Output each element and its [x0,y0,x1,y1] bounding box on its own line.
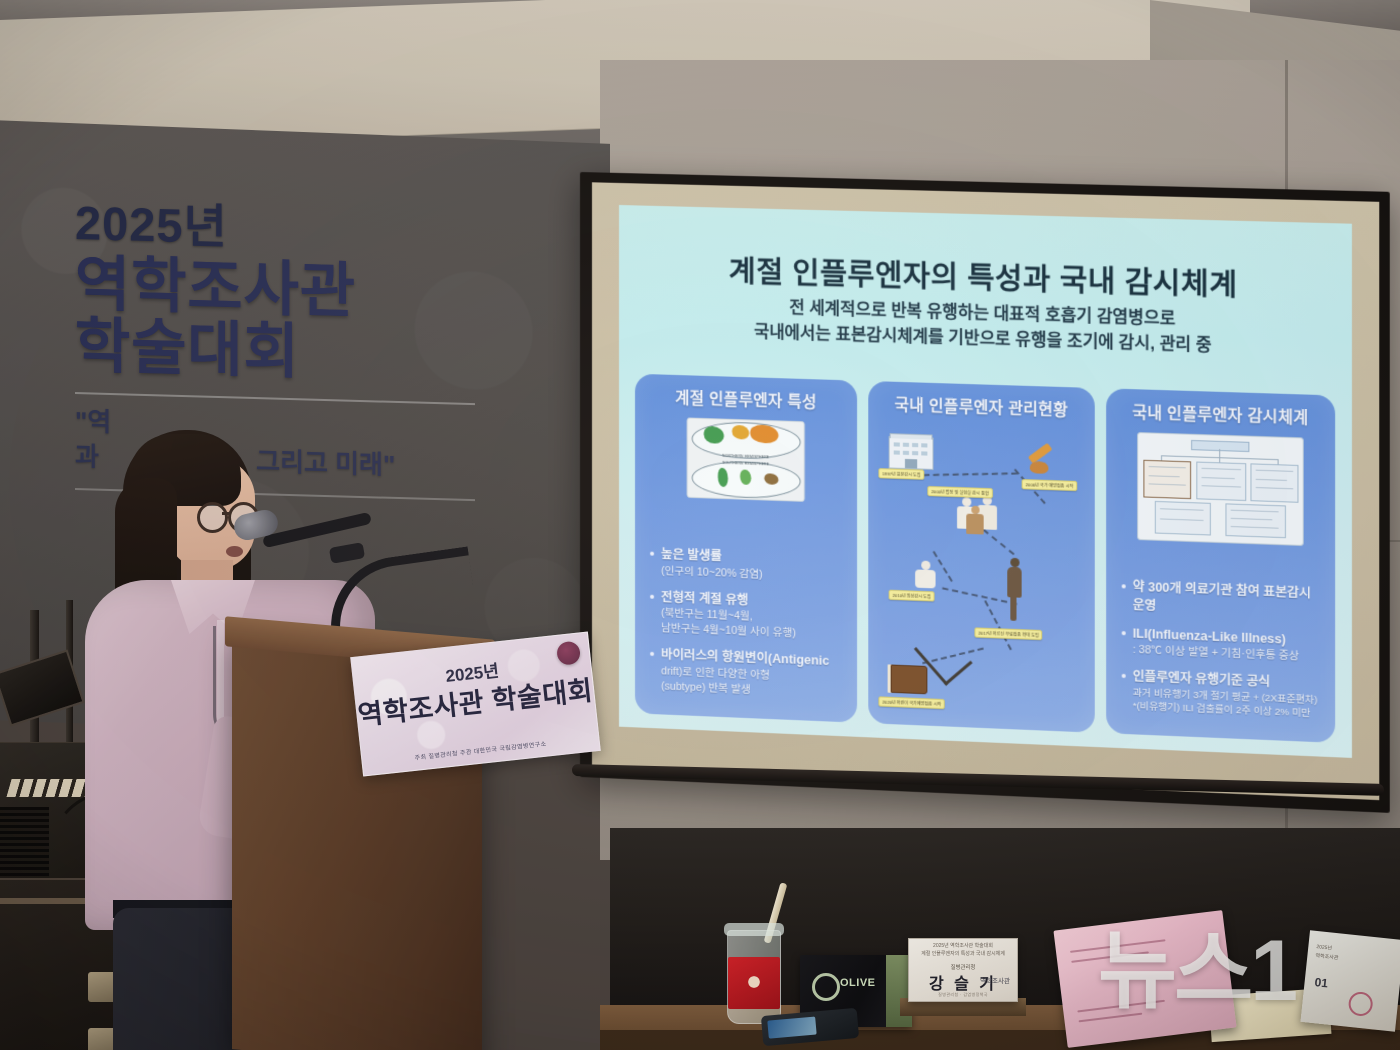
hospital-building-icon [889,436,934,470]
nameplate-event: 2025년 역학조사관 학술대회 계절 인플루엔자의 특성과 국내 감시체계 [909,943,1017,958]
org-root-node [1191,440,1249,452]
org-node [1225,503,1286,538]
flow-connector [942,587,1017,605]
landmass [764,473,778,485]
bullet-main: 높은 발생률 [661,547,722,563]
product-box-label: OLIVE [840,977,876,989]
glasses-bridge [222,512,230,515]
bullet-item: 인플루엔자 유행기준 공식 과거 비유행기 3개 절기 평균 + (2X표준편차… [1119,668,1325,722]
presentation-slide: 계절 인플루엔자의 특성과 국내 감시체계 전 세계적으로 반복 유행하는 대표… [619,205,1352,758]
surveillance-org-chart [1137,432,1304,546]
panel-3-header: 국내 인플루엔자 감시체계 [1106,400,1335,430]
slide-subtitle-line2: 국내에서는 표본감시체계를 기반으로 유행을 조기에 감시, 관리 중 [754,323,1212,355]
org-connector [1219,449,1220,457]
cup-label-band [728,957,780,1009]
flow-label: 2020년 어린이 국가예방접종 시작 [879,696,945,709]
nameplate-role: 역학조사관 [980,975,1010,985]
bullet-sub: : 38℃ 이상 발열 + 기침·인후통 증상 [1133,643,1326,666]
panel-1-header: 계절 인플루엔자 특성 [635,385,857,414]
news-watermark-text: 뉴스1 [1098,923,1295,1019]
vaccine-vial-icon [1030,461,1049,474]
flow-label: 2010년 임상감시 도입 [889,590,935,602]
flow-connector [924,472,1018,476]
flow-label: 1997년 표본감시 도입 [879,468,925,480]
bullet-sub: (인구의 10~20% 감염) [661,564,848,586]
bullet-item: 바이러스의 항원변이(Antigenic drift)로 인한 다양한 아형 (… [648,646,848,702]
white-booklet-number: 01 [1314,975,1329,990]
bullet-sub: (북반구는 11월~4월, 남반구는 4월~10월 사이 유행) [661,606,848,644]
news-watermark: 뉴스1 [1098,928,1295,1014]
bullet-item: ILI(Influenza-Like Illness) : 38℃ 이상 발열 … [1119,624,1325,665]
slide-subtitle-line1: 전 세계적으로 반복 유행하는 대표적 호흡기 감염병으로 [789,299,1175,328]
panel-3-bullets: 약 300개 의료기관 참여 표본감시 운영 ILI(Influenza-Lik… [1119,578,1325,732]
podium-sign: 2025년 역학조사관 학술대회 주최 질병관리청 주관 대한민국 국립감염병연… [350,631,601,776]
flow-label: 2006년 국가 예방접종 시작 [1022,479,1077,491]
guidebook-icon [891,665,928,695]
nameplate-footer: 질병관리청 · 감염병정책국 [909,992,1017,998]
banner-divider [75,392,475,405]
timeline-flow-diagram: 1997년 표본감시 도입 2006년 국가 예방접종 시작 2000년 법정 … [877,422,1086,725]
landmass [732,425,749,440]
org-node [1155,501,1211,536]
bullet-sub: 과거 비유행기 3개 절기 평균 + (2X표준편차) *(비유행기) ILI … [1133,686,1326,722]
nameplate-event-line: 2025년 역학조사관 학술대회 [933,943,993,949]
bullet-item: 약 300개 의료기관 참여 표본감시 운영 [1119,578,1325,622]
panel-1-bullets: 높은 발생률 (인구의 10~20% 감염) 전형적 계절 유행 (북반구는 1… [648,546,848,713]
projection-screen: 계절 인플루엔자의 특성과 국내 감시체계 전 세계적으로 반복 유행하는 대표… [580,172,1390,813]
panel-influenza-characteristics: 계절 인플루엔자 특성 NORTHERN HEMISPHERE [635,374,857,723]
org-node [1196,462,1246,501]
presentation-photo-scene: 2025년 역학조사관 학술대회 "역 과 그리고 미래" 계절 인플루엔자의 … [0,0,1400,1050]
org-node [1143,460,1191,499]
bullet-item: 높은 발생률 (인구의 10~20% 감염) [648,546,848,586]
lens-left [197,502,228,533]
bullet-sub: drift)로 인한 다양한 아형 (subtype) 반복 발생 [661,664,848,702]
landmass [740,469,751,484]
slide-panels: 계절 인플루엔자 특성 NORTHERN HEMISPHERE [635,374,1335,743]
panel-2-header: 국내 인플루엔자 관리현황 [869,392,1095,421]
banner-title-line2: 학술대회 [75,315,505,389]
flow-label: 2017년 어르신 무료접종 확대 도입 [975,627,1043,640]
white-booklet-stamp-icon [1347,991,1373,1017]
screen-mat: 계절 인플루엔자의 특성과 국내 감시체계 전 세계적으로 반복 유행하는 대표… [592,182,1379,800]
northern-hemisphere-map: NORTHERN HEMISPHERE [688,419,804,462]
panel-surveillance-system: 국내 인플루엔자 감시체계 [1106,388,1335,743]
nameplate-event-sub: 계절 인플루엔자의 특성과 국내 감시체계 [921,951,1005,957]
bullet-main: 약 300개 의료기관 참여 표본감시 운영 [1133,580,1311,613]
iced-drink-cup [727,930,781,1024]
southern-hemisphere-map: SOUTHERN HEMISPHERE [688,458,804,501]
bullet-item: 전형적 계절 유행 (북반구는 11월~4월, 남반구는 4월~10월 사이 유… [648,588,848,644]
white-booklet-text: 2025년역학조사관 [1315,943,1340,963]
white-booklet: 2025년역학조사관 01 [1300,930,1400,1031]
flow-connector [933,551,953,582]
nameplate: 2025년 역학조사관 학술대회 계절 인플루엔자의 특성과 국내 감시체계 질… [908,938,1018,1002]
mouth [226,546,243,557]
flow-connector [984,600,1012,650]
landmass [718,468,728,487]
cup-lid [724,923,784,936]
landmass [704,426,724,444]
world-map-hemispheres-image: NORTHERN HEMISPHERE SOUTHERN HEMISPHERE [687,417,805,501]
panel-domestic-management-status: 국내 인플루엔자 관리현황 [869,381,1095,733]
flow-label: 2000년 법정 및 실험실 감시 통합 [928,486,993,498]
bullet-main: 전형적 계절 유행 [661,590,748,607]
org-node [1250,463,1298,502]
